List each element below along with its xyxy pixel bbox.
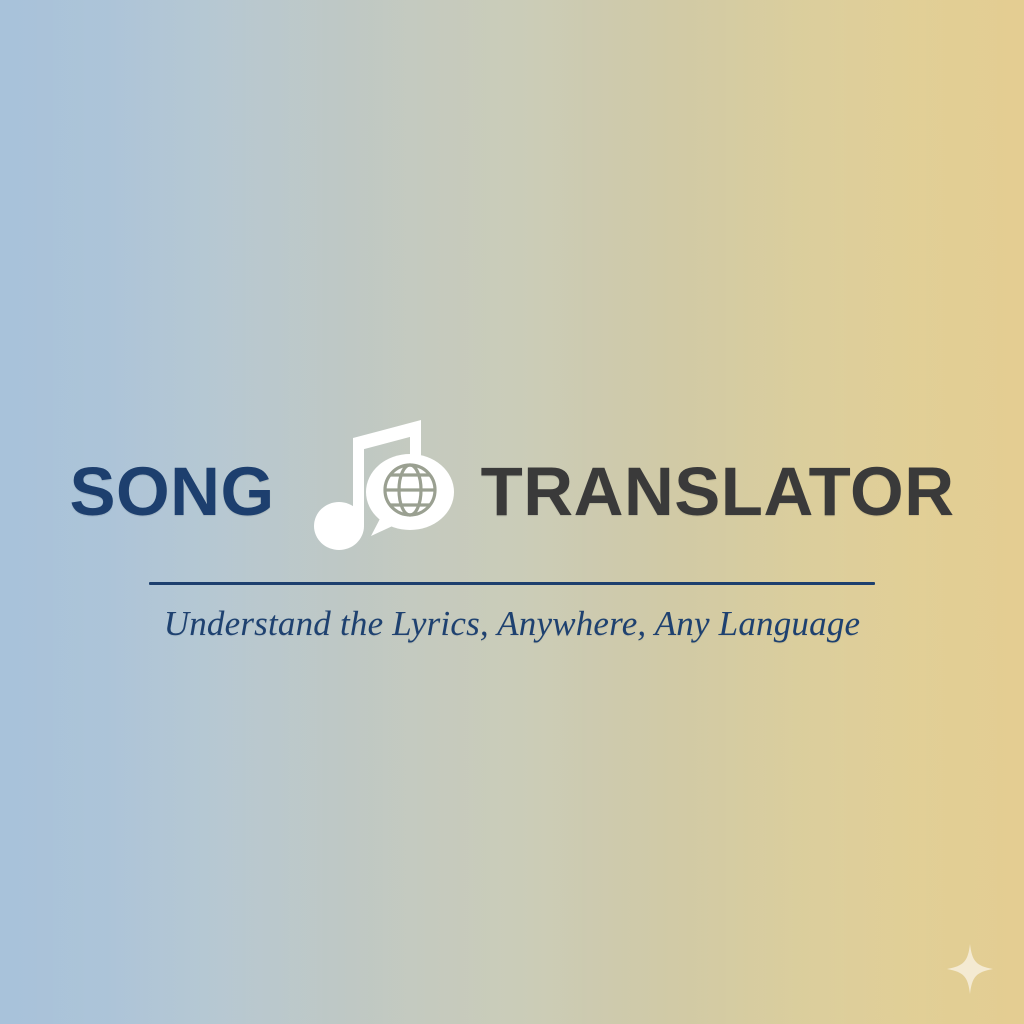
- wordmark-row: SONG: [69, 432, 954, 550]
- speech-bubble-globe-icon: [316, 454, 454, 550]
- logo-canvas: SONG: [0, 0, 1024, 1024]
- music-note-icon: [309, 408, 461, 560]
- brand-lockup: SONG: [0, 432, 1024, 644]
- tagline: Understand the Lyrics, Anywhere, Any Lan…: [164, 604, 861, 644]
- wordmark-song: SONG: [69, 457, 274, 526]
- brand-icon: [309, 408, 461, 560]
- sparkle-icon: [947, 944, 993, 994]
- divider-rule: [149, 582, 875, 585]
- wordmark-translator: TRANSLATOR: [481, 457, 955, 526]
